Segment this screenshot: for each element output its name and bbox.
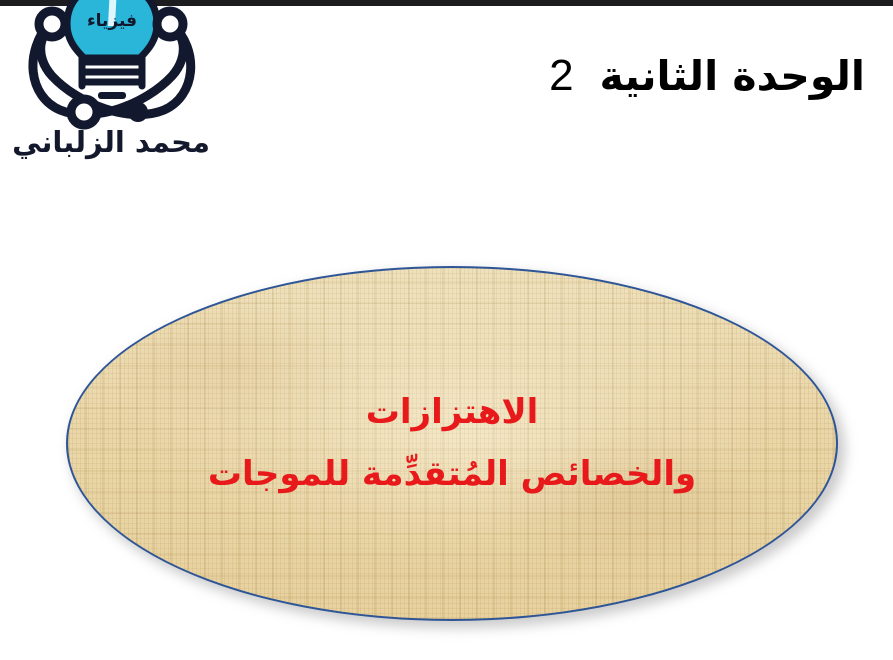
unit-title-label: الوحدة الثانية [600,51,865,102]
physics-atom-lightbulb-logo-icon: فيزياء [14,0,210,140]
unit-number: 2 [549,48,573,103]
svg-text:فيزياء: فيزياء [87,11,137,31]
chapter-title-line-2: والخصائص المُتقدِّمة للموجات [208,450,696,499]
chapter-title-text-group: الاهتزازات والخصائص المُتقدِّمة للموجات [66,266,838,621]
chapter-title-ellipse: الاهتزازات والخصائص المُتقدِّمة للموجات [66,266,846,628]
chapter-title-line-1: الاهتزازات [366,388,539,437]
unit-title: الوحدة الثانية 2 [445,48,865,103]
brand-logo-block: فيزياء محمد [14,0,210,178]
brand-author-name: محمد الزلباني [14,126,210,159]
